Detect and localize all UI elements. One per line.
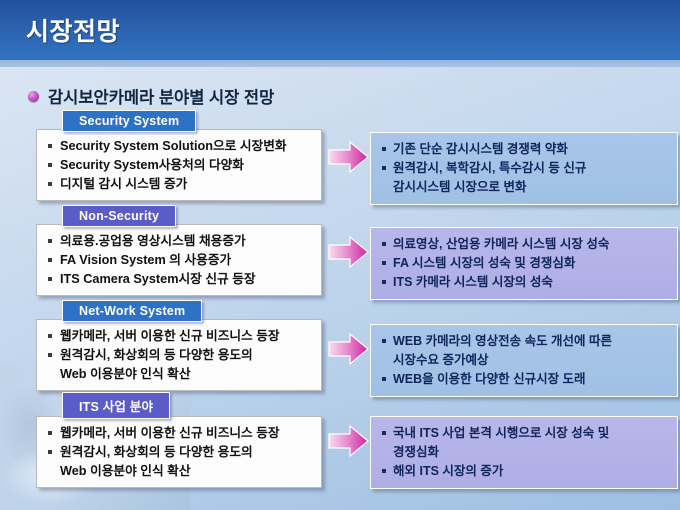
list-item: 웹카메라, 서버 이용한 신규 비즈니스 등장 [47,424,313,443]
right-arrow-icon [328,235,370,269]
right-outcome-box: 기존 단순 감시시스템 경쟁력 약화 원격감시, 복학감시, 특수감시 등 신규… [370,132,678,205]
right-outcome-box: 의료영상, 산업용 카메라 시스템 시장 성숙 FA 시스템 시장의 성숙 및 … [370,227,678,300]
left-group: Net-Work System 웹카메라, 서버 이용한 신규 비즈니스 등장 … [36,300,322,391]
category-label-network-system[interactable]: Net-Work System [62,300,202,322]
list-item: 원격감시, 화상회의 등 다양한 용도의 [47,346,313,365]
list-item: ITS 카메라 시스템 시장의 성숙 [381,273,669,292]
list-item: 의료용.공업용 영상시스템 채용증가 [47,232,313,251]
right-bullet-list: 기존 단순 감시시스템 경쟁력 약화 원격감시, 복학감시, 특수감시 등 신규… [381,140,669,196]
list-item-continuation: Web 이용분야 인식 확산 [47,365,313,384]
list-item: FA Vision System 의 사용증가 [47,251,313,270]
list-item: WEB 카메라의 영상전송 속도 개선에 따른 [381,332,669,351]
list-item-continuation: Web 이용분야 인식 확산 [47,462,313,481]
list-item: 디지털 감시 시스템 증가 [47,175,313,194]
left-detail-box: 의료용.공업용 영상시스템 채용증가 FA Vision System 의 사용… [36,224,322,296]
left-bullet-list: 웹카메라, 서버 이용한 신규 비즈니스 등장 원격감시, 화상회의 등 다양한… [47,424,313,480]
left-group: Non-Security 의료용.공업용 영상시스템 채용증가 FA Visio… [36,205,322,296]
left-bullet-list: Security System Solution으로 시장변화 Security… [47,137,313,193]
left-bullet-list: 웹카메라, 서버 이용한 신규 비즈니스 등장 원격감시, 화상회의 등 다양한… [47,327,313,383]
list-item: 원격감시, 복학감시, 특수감시 등 신규 [381,159,669,178]
right-arrow-icon [328,424,370,458]
list-item-continuation: 경쟁심화 [381,443,669,462]
list-item: WEB을 이용한 다양한 신규시장 도래 [381,370,669,389]
right-outcome-box: 국내 ITS 사업 본격 시행으로 시장 성숙 및 경쟁심화 해외 ITS 시장… [370,416,678,489]
slide-market-outlook: 시장전망 감시보안카메라 분야별 시장 전망 Security System S… [0,0,680,510]
subtitle-row: 감시보안카메라 분야별 시장 전망 [28,84,274,108]
slide-header-accent-strip [0,60,680,67]
list-item-continuation: 시장수요 증가예상 [381,351,669,370]
left-detail-box: 웹카메라, 서버 이용한 신규 비즈니스 등장 원격감시, 화상회의 등 다양한… [36,416,322,488]
right-arrow-icon [328,140,370,174]
right-arrow-icon [328,332,370,366]
list-item: 원격감시, 화상회의 등 다양한 용도의 [47,443,313,462]
sphere-bullet-icon [28,91,39,102]
left-bullet-list: 의료용.공업용 영상시스템 채용증가 FA Vision System 의 사용… [47,232,313,288]
right-bullet-list: 의료영상, 산업용 카메라 시스템 시장 성숙 FA 시스템 시장의 성숙 및 … [381,235,669,291]
list-item-continuation: 감시시스템 시장으로 변화 [381,178,669,197]
list-item: 의료영상, 산업용 카메라 시스템 시장 성숙 [381,235,669,254]
subtitle-text: 감시보안카메라 분야별 시장 전망 [48,84,274,108]
list-item: 해외 ITS 시장의 증가 [381,462,669,481]
list-item: 기존 단순 감시시스템 경쟁력 약화 [381,140,669,159]
list-item: Security System사용처의 다양화 [47,156,313,175]
left-detail-box: 웹카메라, 서버 이용한 신규 비즈니스 등장 원격감시, 화상회의 등 다양한… [36,319,322,391]
list-item: 국내 ITS 사업 본격 시행으로 시장 성숙 및 [381,424,669,443]
right-bullet-list: WEB 카메라의 영상전송 속도 개선에 따른 시장수요 증가예상 WEB을 이… [381,332,669,388]
list-item: 웹카메라, 서버 이용한 신규 비즈니스 등장 [47,327,313,346]
left-detail-box: Security System Solution으로 시장변화 Security… [36,129,322,201]
right-bullet-list: 국내 ITS 사업 본격 시행으로 시장 성숙 및 경쟁심화 해외 ITS 시장… [381,424,669,480]
left-group: ITS 사업 분야 웹카메라, 서버 이용한 신규 비즈니스 등장 원격감시, … [36,392,322,488]
right-outcome-box: WEB 카메라의 영상전송 속도 개선에 따른 시장수요 증가예상 WEB을 이… [370,324,678,397]
list-item: Security System Solution으로 시장변화 [47,137,313,156]
left-group: Security System Security System Solution… [36,110,322,201]
category-label-its-business[interactable]: ITS 사업 분야 [62,392,170,419]
list-item: ITS Camera System시장 신규 등장 [47,270,313,289]
list-item: FA 시스템 시장의 성숙 및 경쟁심화 [381,254,669,273]
page-title: 시장전망 [26,12,120,48]
category-label-security-system[interactable]: Security System [62,110,196,132]
category-label-non-security[interactable]: Non-Security [62,205,176,227]
